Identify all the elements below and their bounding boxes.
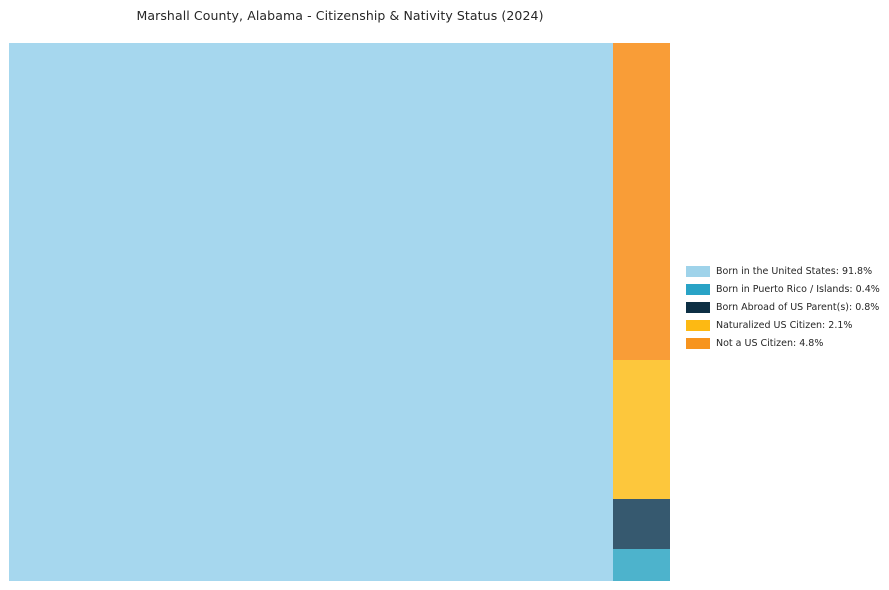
legend-color-swatch [686,320,710,331]
legend-color-swatch [686,266,710,277]
legend-item-label: Born in the United States: 91.8% [716,266,872,277]
chart-legend: Born in the United States: 91.8%Born in … [686,262,886,352]
treemap-tile[interactable] [613,549,670,581]
legend-color-swatch [686,338,710,349]
treemap-plot-area [9,43,670,581]
legend-item[interactable]: Not a US Citizen: 4.8% [686,334,886,352]
treemap-chart-figure: Marshall County, Alabama - Citizenship &… [0,0,889,590]
treemap-tile[interactable] [613,43,670,360]
legend-item[interactable]: Born in Puerto Rico / Islands: 0.4% [686,280,886,298]
legend-item-label: Born Abroad of US Parent(s): 0.8% [716,302,879,313]
treemap-tile[interactable] [9,43,613,581]
legend-item-label: Born in Puerto Rico / Islands: 0.4% [716,284,880,295]
legend-item[interactable]: Born Abroad of US Parent(s): 0.8% [686,298,886,316]
treemap-tile[interactable] [613,360,670,499]
legend-item-label: Not a US Citizen: 4.8% [716,338,823,349]
legend-color-swatch [686,284,710,295]
legend-item[interactable]: Naturalized US Citizen: 2.1% [686,316,886,334]
legend-color-swatch [686,302,710,313]
legend-item-label: Naturalized US Citizen: 2.1% [716,320,852,331]
treemap-tile[interactable] [613,499,670,549]
legend-item[interactable]: Born in the United States: 91.8% [686,262,886,280]
chart-title: Marshall County, Alabama - Citizenship &… [0,8,680,23]
